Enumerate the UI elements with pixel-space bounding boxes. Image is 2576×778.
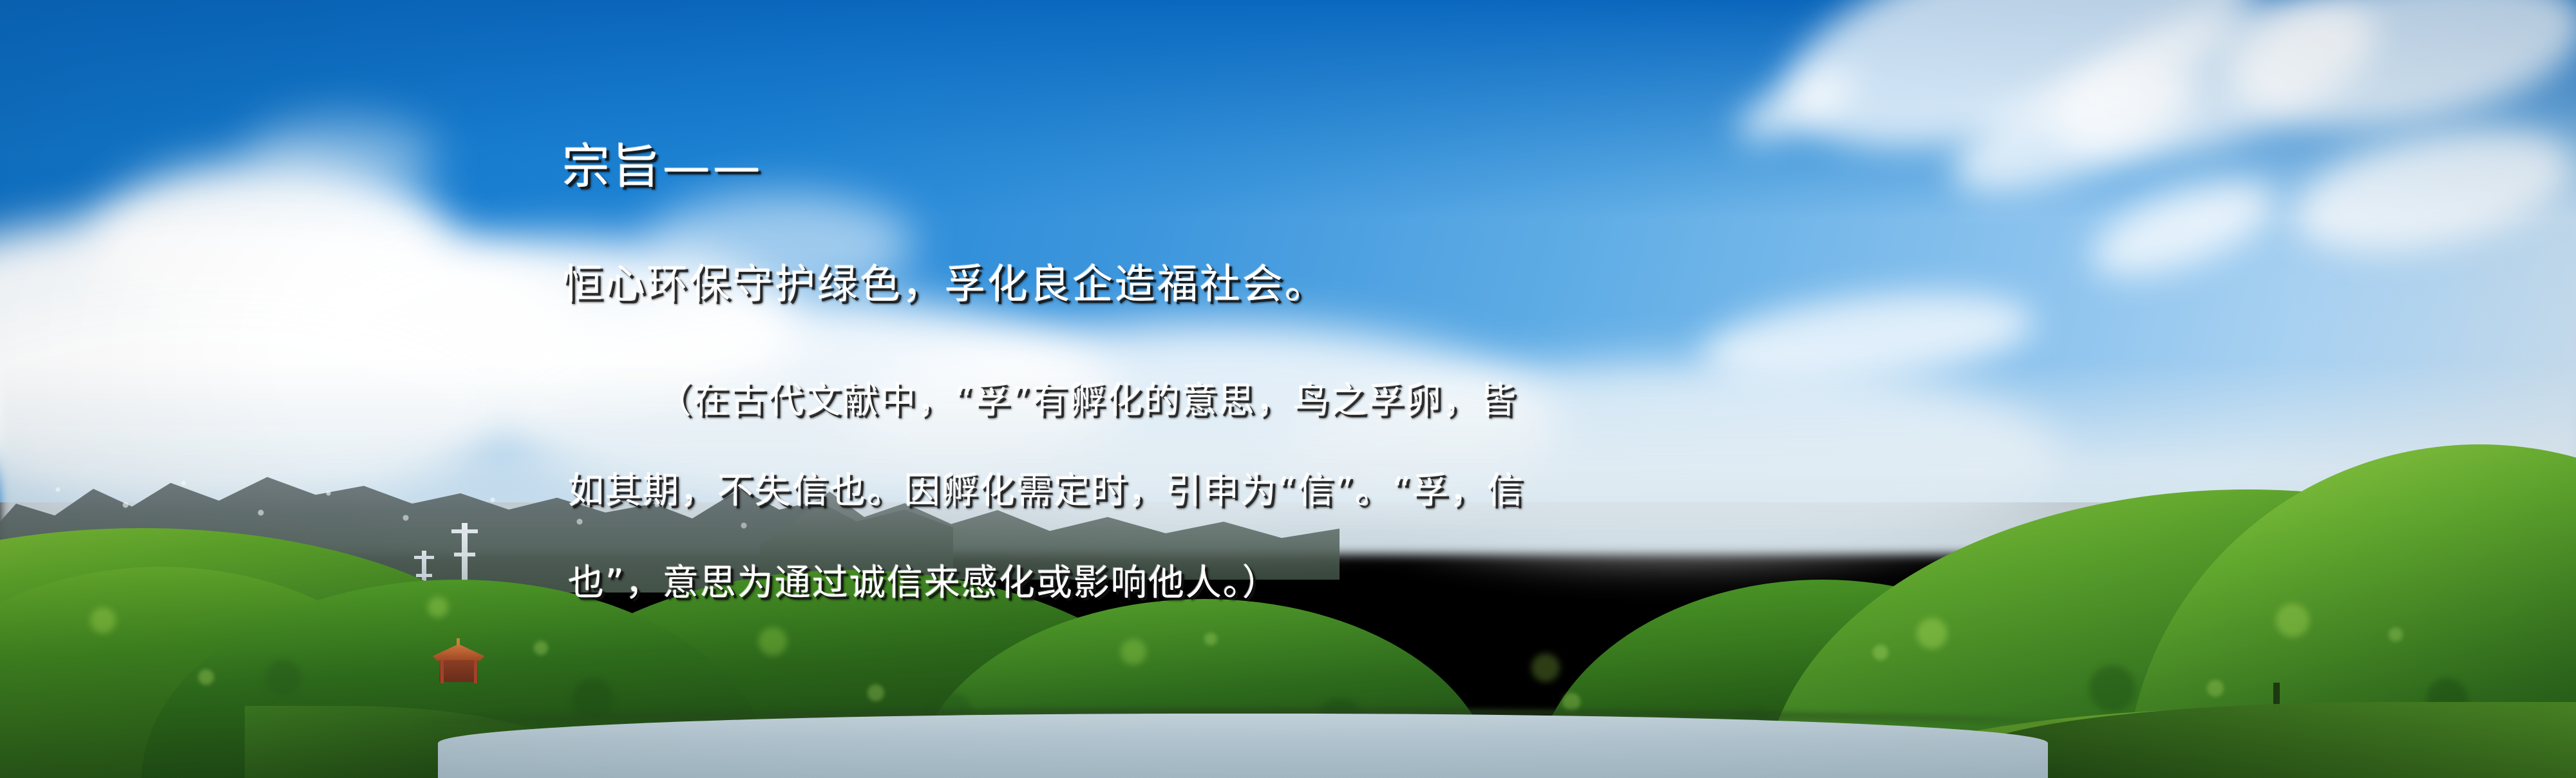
- lake-water: [438, 714, 2048, 778]
- hero-banner: 宗旨—— 恒心环保守护绿色，孚化良企造福社会。 （在古代文献中，“孚”有孵化的意…: [0, 0, 2576, 778]
- red-pavilion: [433, 644, 484, 684]
- pavilion-column: [474, 660, 477, 683]
- pavilion-column: [440, 660, 444, 683]
- pavilion-roof: [433, 644, 484, 661]
- pavilion-body: [439, 660, 478, 682]
